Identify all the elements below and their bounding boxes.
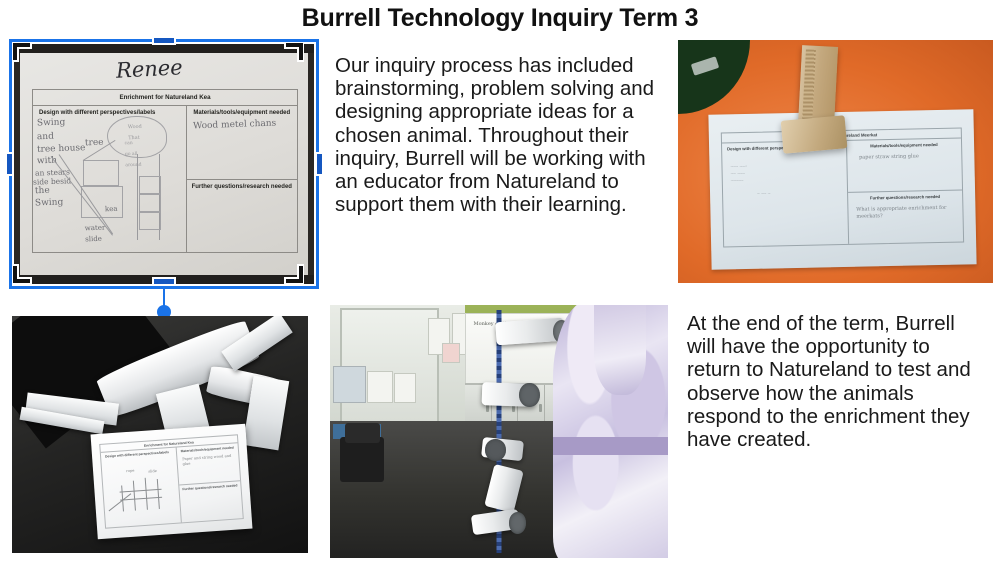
cardboard-worksheet-design-column: Design with different perspectives/label… — [722, 141, 849, 247]
cardboard-base — [781, 115, 848, 153]
handle-edge-middle-left[interactable] — [5, 152, 14, 176]
image-paper-model[interactable]: Enrichment for Natureland Kea Design wit… — [12, 316, 308, 553]
paper-worksheet-right-column: Materials/tools/equipment needed Paper a… — [176, 443, 242, 522]
worksheet-header: Enrichment for Natureland Kea — [33, 90, 297, 106]
handwritten-student-name: Renee — [115, 55, 183, 82]
handle-edge-bottom-center[interactable] — [152, 277, 176, 286]
paper-questions-cell: Further questions/research needed — [179, 481, 243, 522]
handle-corner-bottom-right[interactable] — [284, 264, 304, 284]
image-classroom[interactable]: Monkey on the Bed — [330, 305, 668, 558]
paper-model-worksheet: Enrichment for Natureland Kea Design wit… — [91, 424, 253, 540]
worksheet-materials-cell: Materials/tools/equipment needed Wood me… — [187, 106, 297, 180]
image-cardboard-model[interactable]: Enrichment for Natureland Meerkat Design… — [678, 40, 993, 283]
slide-canvas: Burrell Technology Inquiry Term 3 Renee … — [0, 0, 1000, 562]
worksheet-column-label-questions: Further questions/research needed — [187, 180, 297, 190]
cardboard-materials-handwriting: paper straw string glue — [859, 153, 919, 161]
worksheet-column-label-design: Design with different perspectives/label… — [33, 106, 186, 116]
handle-corner-top-left[interactable] — [12, 42, 32, 62]
handle-edge-middle-right[interactable] — [315, 152, 324, 176]
cardboard-questions-cell: Further questions/research needed What i… — [848, 190, 963, 243]
classroom-chair — [340, 437, 384, 483]
handle-edge-top-center[interactable] — [152, 36, 176, 45]
worksheet-right-column: Materials/tools/equipment needed Wood me… — [187, 106, 297, 252]
photo-edge-top — [14, 44, 314, 53]
text-block-outro[interactable]: At the end of the term, Burrell will hav… — [687, 312, 987, 451]
worksheet-table: Enrichment for Natureland Kea Design wit… — [32, 89, 298, 253]
paper-materials-cell: Materials/tools/equipment needed Paper a… — [176, 443, 240, 485]
worksheet-materials-handwriting: Wood metel chans — [192, 119, 276, 133]
worksheet-questions-cell: Further questions/research needed — [187, 180, 297, 253]
worksheet-paper: Renee Enrichment for Natureland Kea Desi… — [20, 53, 308, 275]
handle-corner-top-right[interactable] — [284, 42, 304, 62]
paper-materials-handwriting: Paper and string wood and glue — [182, 453, 239, 467]
handle-corner-bottom-left[interactable] — [12, 264, 32, 284]
student-arm — [594, 305, 645, 395]
student-jacket-band — [553, 437, 668, 455]
worksheet-column-label-materials: Materials/tools/equipment needed — [187, 106, 297, 116]
text-block-intro[interactable]: Our inquiry process has included brainst… — [335, 54, 665, 216]
cardboard-materials-cell: Materials/tools/equipment needed paper s… — [847, 139, 962, 193]
worksheet-sketch: Swing and tree house with an stears side… — [33, 116, 186, 252]
cardboard-column-label-questions: Further questions/research needed — [848, 190, 962, 200]
cardboard-questions-handwriting: What is appropriate enrichment for meerk… — [856, 205, 961, 221]
paper-worksheet-design-column: Design with different perspectives/label… — [101, 448, 182, 528]
classroom-poster-2 — [394, 373, 416, 403]
enrichment-pipe-2-end — [519, 383, 539, 407]
page-title[interactable]: Burrell Technology Inquiry Term 3 — [0, 4, 1000, 33]
image-worksheet-kea[interactable]: Renee Enrichment for Natureland Kea Desi… — [14, 44, 314, 284]
classroom-poster-1 — [367, 371, 393, 403]
enrichment-pipe-5-end — [509, 512, 526, 534]
worksheet-design-column: Design with different perspectives/label… — [33, 106, 187, 252]
classroom-window — [333, 366, 365, 403]
student-person — [553, 305, 668, 558]
enrichment-pipe-3-end — [485, 439, 505, 461]
classroom-poster-5 — [442, 343, 461, 363]
cardboard-worksheet-right-column: Materials/tools/equipment needed paper s… — [847, 139, 963, 244]
cardboard-column-label-materials: Materials/tools/equipment needed — [847, 139, 961, 149]
